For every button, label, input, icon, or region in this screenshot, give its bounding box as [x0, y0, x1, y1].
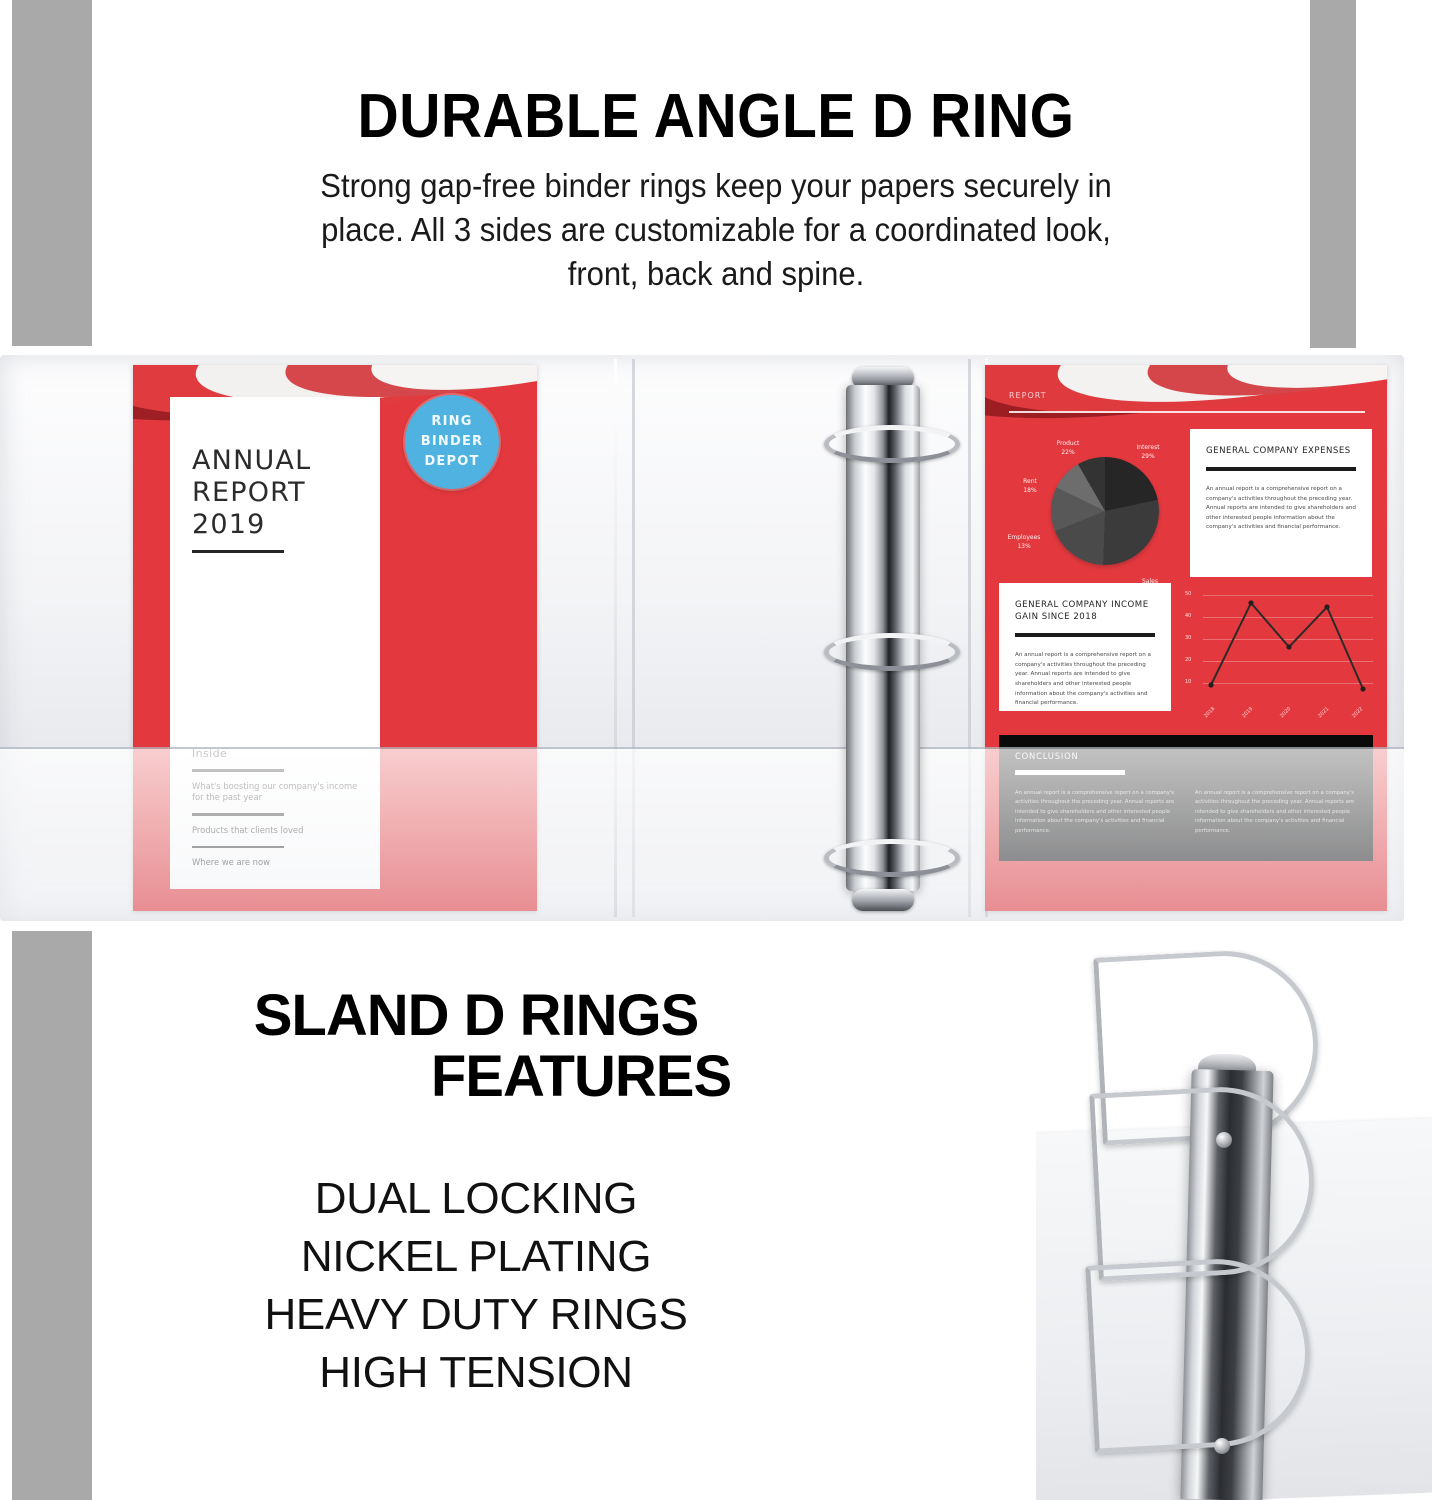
- d-ring: [824, 839, 960, 877]
- annual-report-title: ANNUAL REPORT 2019: [192, 445, 370, 541]
- ring-rivet: [1216, 1132, 1232, 1148]
- line-chart-series: [1181, 577, 1375, 725]
- expenses-card-body: An annual report is a comprehensive repo…: [1206, 485, 1356, 533]
- feature-item: HIGH TENSION: [0, 1344, 952, 1402]
- badge-line-1: RING: [431, 412, 472, 432]
- top-heading-block: DURABLE ANGLE D RING Strong gap-free bin…: [0, 0, 1432, 296]
- expenses-card-heading: GENERAL COMPANY EXPENSES: [1206, 445, 1356, 457]
- badge-line-2: BINDER: [421, 432, 484, 452]
- pie-label: Interest29%: [1125, 443, 1171, 461]
- feature-item: HEAVY DUTY RINGS: [0, 1286, 952, 1344]
- page-hairline-rule: [1009, 411, 1365, 413]
- clear-overlay-pocket: [0, 749, 1404, 921]
- main-product-photo: ANNUAL REPORT 2019 Inside What's boostin…: [0, 355, 1432, 925]
- general-company-income-card: GENERAL COMPANY INCOME GAIN SINCE 2018 A…: [999, 583, 1171, 711]
- general-company-expenses-card: GENERAL COMPANY EXPENSES An annual repor…: [1190, 429, 1372, 577]
- expenses-card-rule: [1206, 467, 1356, 471]
- three-ring-mechanism: [806, 361, 966, 917]
- income-card-rule: [1015, 633, 1155, 637]
- headline-sland-d-rings: SLAND D RINGS: [0, 985, 952, 1046]
- feature-item: NICKEL PLATING: [0, 1228, 952, 1286]
- page-brand-mark: REPORT: [1009, 391, 1047, 400]
- feature-item: DUAL LOCKING: [0, 1170, 952, 1228]
- d-ring: [824, 425, 960, 463]
- title-underline: [192, 550, 284, 553]
- headline-durable-angle-d-ring: DURABLE ANGLE D RING: [57, 0, 1374, 148]
- d-ring: [824, 633, 960, 671]
- d-ring-closeup-photo: [1036, 950, 1432, 1500]
- badge-line-3: DEPOT: [424, 452, 479, 472]
- pie-label: Rent18%: [1007, 477, 1053, 495]
- ring-binder-depot-badge: RING BINDER DEPOT: [405, 395, 499, 489]
- product-listing-image: DURABLE ANGLE D RING Strong gap-free bin…: [0, 0, 1432, 1500]
- clear-overlay-pocket-seam: [0, 747, 1404, 749]
- ring-rivet: [1214, 1438, 1230, 1454]
- headline-subtitle: Strong gap-free binder rings keep your p…: [293, 148, 1139, 296]
- pie-label: Employees13%: [1001, 533, 1047, 551]
- income-card-heading: GENERAL COMPANY INCOME GAIN SINCE 2018: [1015, 599, 1155, 623]
- income-line-chart: 50 40 30 20 10 2018 2019 2020 2021 2022: [1181, 577, 1375, 725]
- ring-lever-bottom: [852, 889, 914, 911]
- headline-features: FEATURES: [0, 1046, 952, 1107]
- income-card-body: An annual report is a comprehensive repo…: [1015, 651, 1155, 709]
- pie-slices: [1051, 457, 1159, 565]
- pie-label: Product22%: [1045, 439, 1091, 457]
